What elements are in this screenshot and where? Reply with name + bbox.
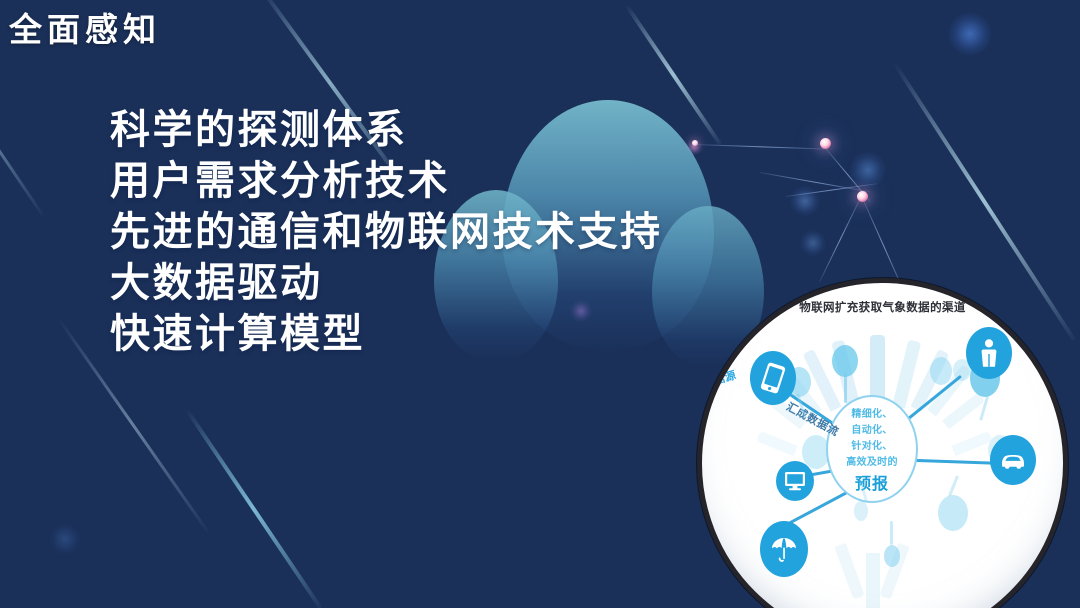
light-streak: [0, 90, 44, 216]
light-streak: [893, 62, 1076, 341]
bullet-line-2: 用户需求分析技术: [110, 156, 870, 207]
sunburst-ray: [951, 431, 992, 456]
stem-tick: [948, 475, 959, 497]
satellite-blob: [938, 495, 968, 531]
label-data-flow: 汇成数据流: [784, 398, 842, 439]
stem-tick: [844, 373, 847, 403]
light-streak: [185, 408, 323, 608]
satellite-blob: [970, 359, 1000, 397]
hub-line-2: 自动化、: [851, 421, 892, 436]
bullet-line-4: 大数据驱动: [110, 258, 870, 309]
sunburst-ray: [927, 364, 971, 416]
spoke-line: [790, 394, 871, 450]
person-node: [966, 327, 1012, 379]
bullet-line-3: 先进的通信和物联网技术支持: [110, 207, 870, 258]
stem-tick: [796, 393, 807, 419]
umbrella-icon: [770, 534, 798, 564]
sunburst-ray: [777, 364, 821, 416]
bullet-line-1: 科学的探测体系: [110, 105, 870, 156]
sunburst-ray: [756, 431, 797, 456]
spoke-line: [916, 459, 998, 465]
sunburst-ray: [764, 392, 807, 429]
spoke-line: [791, 465, 858, 480]
hub-keyword: 预报: [855, 470, 889, 494]
sunburst-ray: [879, 543, 909, 600]
background-glow: [50, 524, 80, 554]
stem-tick: [859, 479, 868, 503]
label-data-source: 数据源: [700, 367, 738, 392]
infographic-hub: 精细化、 自动化、 针对化、 高效及时的 预报: [826, 395, 918, 503]
hub-line-1: 精细化、: [851, 405, 892, 420]
page-title: 全面感知: [9, 12, 161, 48]
sunburst-ray: [866, 553, 880, 608]
satellite-blob: [884, 545, 900, 567]
monitor-icon: [784, 471, 806, 491]
smartphone-icon: [763, 363, 783, 393]
stem-tick: [890, 521, 893, 545]
sunburst-ray: [911, 349, 950, 412]
car-node: [990, 435, 1036, 485]
stem-tick: [979, 393, 990, 421]
satellite-blob: [802, 435, 830, 469]
hub-line-4: 高效及时的: [846, 453, 898, 468]
sunburst-ray: [834, 543, 864, 600]
satellite-blob: [930, 357, 952, 385]
background-glow: [948, 12, 992, 56]
bullet-list: 科学的探测体系 用户需求分析技术 先进的通信和物联网技术支持 大数据驱动 快速计…: [110, 105, 870, 360]
hub-line-3: 针对化、: [851, 437, 892, 452]
slide-canvas: 全面感知 科学的探测体系 用户需求分析技术 先进的通信和物联网技术支持 大数据驱…: [0, 0, 1080, 608]
satellite-blob: [787, 367, 811, 397]
person-icon: [979, 338, 999, 368]
spoke-line: [873, 375, 962, 448]
umbrella-node: [760, 521, 808, 577]
spoke-line: [784, 483, 863, 527]
sunburst-ray: [892, 339, 921, 408]
car-icon: [999, 450, 1027, 470]
satellite-blob: [988, 435, 1012, 465]
monitor-node: [776, 461, 814, 501]
bullet-line-5: 快速计算模型: [110, 309, 870, 360]
sunburst-ray: [942, 392, 985, 429]
sunburst-ray: [870, 335, 885, 407]
satellite-blob: [854, 501, 868, 521]
satellite-blob: [953, 359, 971, 381]
